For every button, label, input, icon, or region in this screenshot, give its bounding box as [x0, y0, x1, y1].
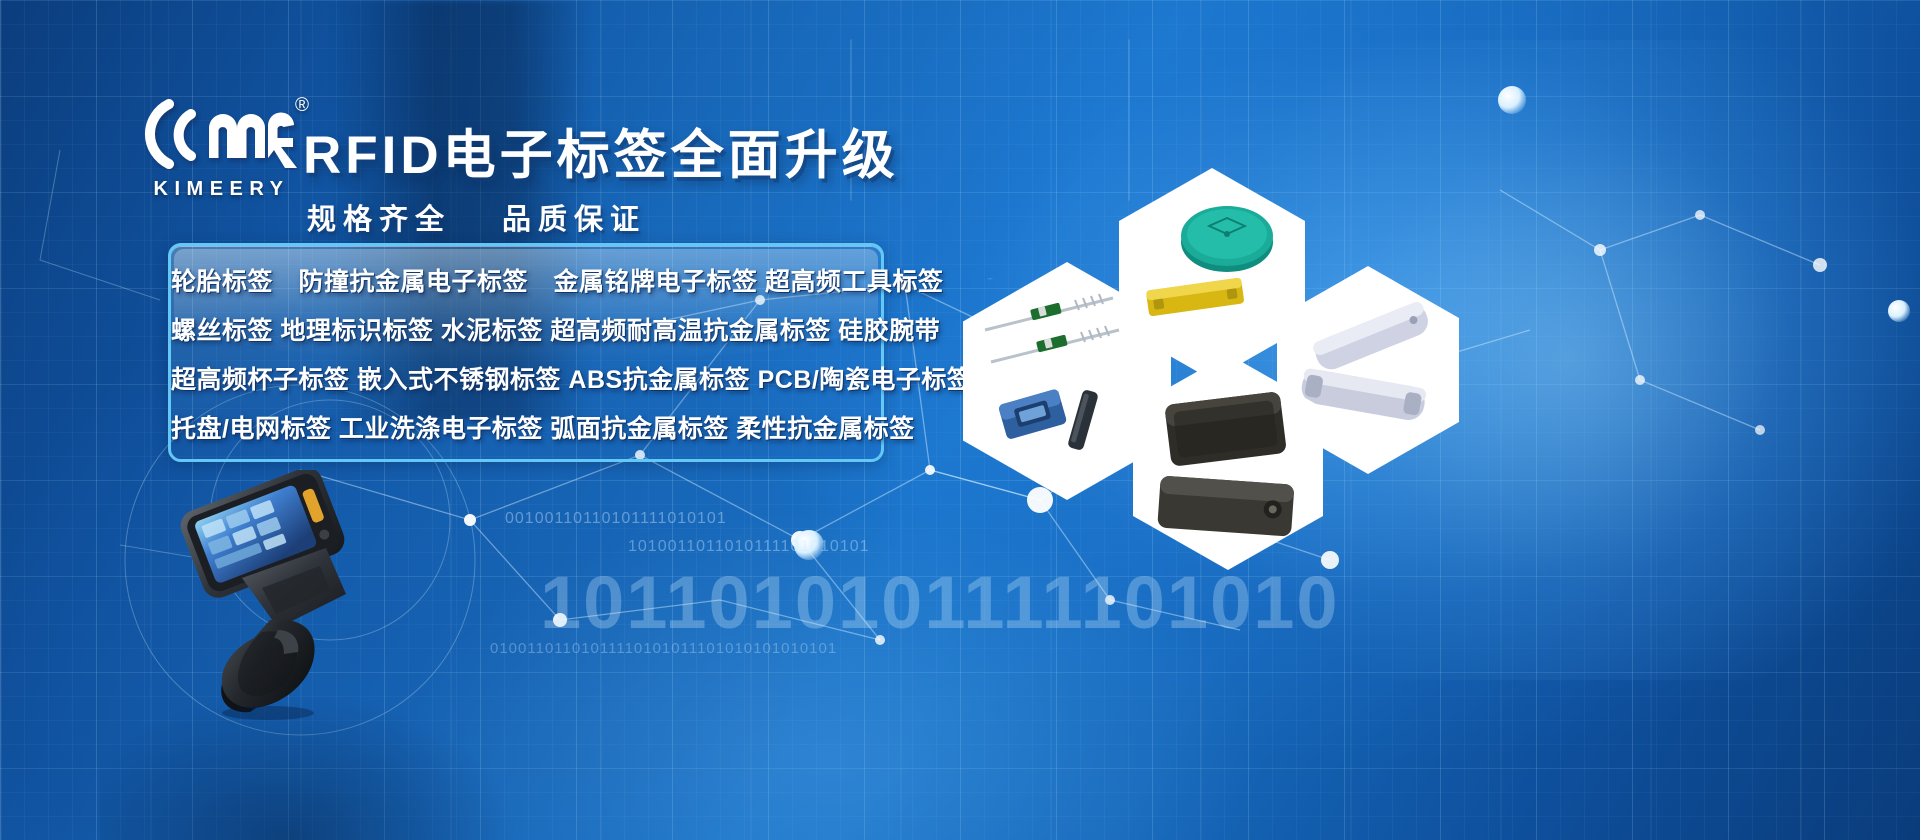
brand-logo: ® KIMEERY	[131, 98, 306, 208]
product-list-row: 超高频杯子标签 嵌入式不锈钢标签 ABS抗金属标签 PCB/陶瓷电子标签	[171, 356, 881, 405]
brand-wordmark: KIMEERY	[131, 178, 306, 201]
binary-decoration: 00100110110101111010101	[505, 510, 727, 528]
rfid-promo-banner: 00100110110101111010101 1010011011010111…	[0, 0, 1920, 840]
product-list-row: 托盘/电网标签 工业洗涤电子标签 弧面抗金属标签 柔性抗金属标签	[171, 405, 881, 454]
reader-shadow	[100, 690, 520, 840]
glow-dot	[1888, 300, 1910, 322]
binary-decoration: 1010011011010111101010101	[628, 538, 870, 556]
handheld-rfid-reader	[150, 470, 380, 720]
banner-headline: RFID电子标签全面升级	[303, 113, 899, 189]
product-list-row: 轮胎标签 防撞抗金属电子标签 金属铭牌电子标签 超高频工具标签	[171, 258, 881, 307]
product-list-panel: 轮胎标签 防撞抗金属电子标签 金属铭牌电子标签 超高频工具标签 螺丝标签 地理标…	[168, 243, 884, 462]
kimeery-wave-logo-icon: ®	[131, 98, 306, 170]
banner-subtitle: 规格齐全 品质保证	[307, 196, 646, 238]
binary-decoration-large: 1011010101111101010	[540, 560, 1340, 645]
glow-dot	[1498, 86, 1526, 114]
product-list-row: 螺丝标签 地理标识标签 水泥标签 超高频耐高温抗金属标签 硅胶腕带	[171, 307, 881, 356]
